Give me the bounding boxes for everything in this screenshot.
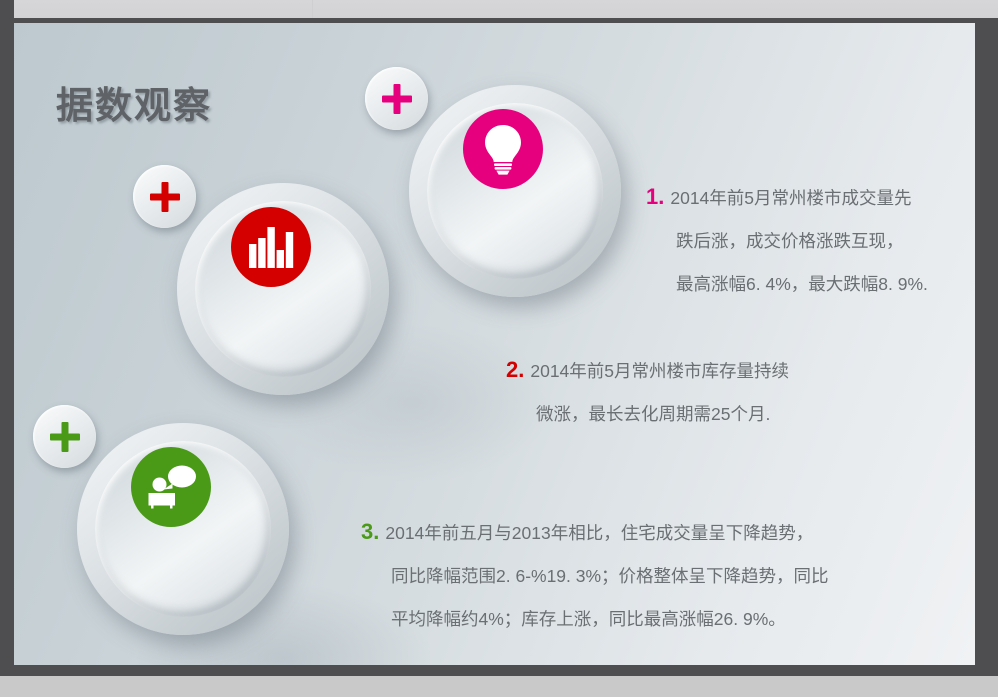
bullet-2-line-1: 2.2014年前5月常州楼市库存量持续 xyxy=(506,348,789,393)
plus-badge-talk[interactable] xyxy=(33,405,96,468)
bullet-3-text-1: 2014年前五月与2013年相比，住宅成交量呈下降趋势， xyxy=(385,523,813,543)
window-top-strip xyxy=(0,0,998,18)
bar-chart-icon xyxy=(231,207,311,287)
plus-badge-idea[interactable] xyxy=(365,67,428,130)
slide-canvas: 据数观察 xyxy=(14,23,975,665)
page-title: 据数观察 xyxy=(56,75,212,129)
disc-talk[interactable] xyxy=(77,423,289,635)
bullet-2-text-1: 2014年前5月常州楼市库存量持续 xyxy=(530,361,789,381)
presentation-window: 据数观察 xyxy=(0,0,998,697)
bullet-1-text-1: 2014年前5月常州楼市成交量先 xyxy=(670,188,911,208)
plus-badge-chart[interactable] xyxy=(133,165,196,228)
bullet-3-number: 3. xyxy=(361,519,379,544)
disc-idea[interactable] xyxy=(409,85,621,297)
bullet-item-1: 1.2014年前5月常州楼市成交量先 跌后涨，成交价格涨跌互现， 最高涨幅6. … xyxy=(646,175,928,306)
top-strip-seam xyxy=(312,0,313,18)
window-outer-bottom xyxy=(0,676,998,697)
plus-icon xyxy=(150,182,180,212)
window-frame-left xyxy=(0,0,14,676)
window-frame-bottom xyxy=(0,665,998,676)
bullet-item-2: 2.2014年前5月常州楼市库存量持续 微涨，最长去化周期需25个月. xyxy=(506,348,789,436)
bullet-1-text-3: 最高涨幅6. 4%，最大跌幅8. 9%. xyxy=(646,263,928,306)
bullet-item-3: 3.2014年前五月与2013年相比，住宅成交量呈下降趋势， 同比降幅范围2. … xyxy=(361,510,829,641)
window-frame-right xyxy=(975,18,998,676)
bullet-3-text-2: 同比降幅范围2. 6-%19. 3%；价格整体呈下降趋势，同比 xyxy=(361,555,829,598)
bullet-3-text-3: 平均降幅约4%；库存上涨，同比最高涨幅26. 9%。 xyxy=(361,598,829,641)
bullet-3-line-1: 3.2014年前五月与2013年相比，住宅成交量呈下降趋势， xyxy=(361,510,829,555)
plus-icon xyxy=(50,422,80,452)
bullet-1-line-1: 1.2014年前5月常州楼市成交量先 xyxy=(646,175,928,220)
bullet-2-text-2: 微涨，最长去化周期需25个月. xyxy=(506,393,789,436)
disc-chart[interactable] xyxy=(177,183,389,395)
plus-icon xyxy=(382,84,412,114)
bullet-2-number: 2. xyxy=(506,357,524,382)
person-speech-icon xyxy=(131,447,211,527)
bullet-1-number: 1. xyxy=(646,184,664,209)
bullet-1-text-2: 跌后涨，成交价格涨跌互现， xyxy=(646,220,928,263)
lightbulb-icon xyxy=(463,109,543,189)
